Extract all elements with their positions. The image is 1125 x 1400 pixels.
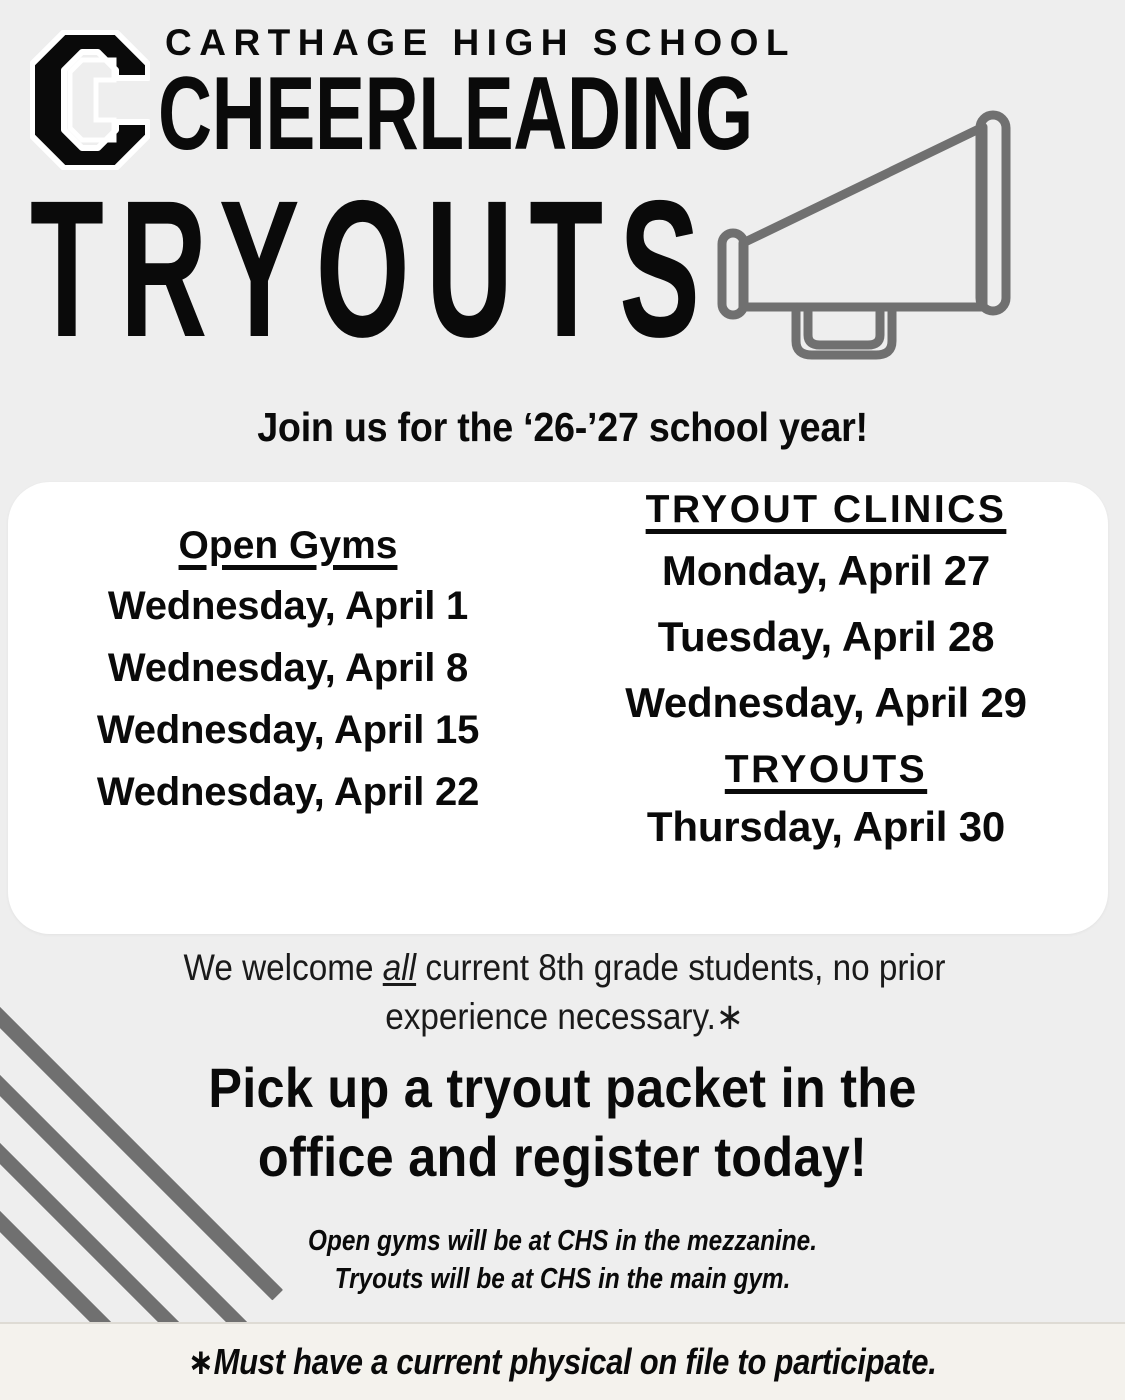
open-gym-date: Wednesday, April 1 (28, 586, 548, 626)
open-gym-date: Wednesday, April 22 (28, 772, 548, 812)
open-gyms-column: Open Gyms Wednesday, April 1 Wednesday, … (28, 524, 548, 834)
tryouts-heading: TRYOUTS (556, 748, 1096, 792)
footer-band: ∗Must have a current physical on file to… (0, 1322, 1125, 1400)
tryout-clinics-column: TRYOUT CLINICS Monday, April 27 Tuesday,… (556, 488, 1096, 872)
tryout-clinics-heading: TRYOUT CLINICS (556, 488, 1096, 532)
page-title: TRYOUTS (30, 172, 716, 367)
tryout-date: Thursday, April 30 (556, 806, 1096, 848)
subtitle: Join us for the ‘26-’27 school year! (45, 404, 1080, 451)
footer-disclaimer: ∗Must have a current physical on file to… (188, 1341, 937, 1383)
poster-canvas: CARTHAGE HIGH SCHOOL CHEERLEADING TRYOUT… (0, 0, 1125, 1400)
clinic-date: Monday, April 27 (556, 550, 1096, 592)
location-notes: Open gyms will be at CHS in the mezzanin… (90, 1222, 1035, 1299)
cta-line-1: Pick up a tryout packet in the (56, 1053, 1069, 1122)
megaphone-icon (700, 105, 1050, 365)
clinic-date: Tuesday, April 28 (556, 616, 1096, 658)
clinic-date: Wednesday, April 29 (556, 682, 1096, 724)
open-gym-date: Wednesday, April 15 (28, 710, 548, 750)
open-gym-date: Wednesday, April 8 (28, 648, 548, 688)
welcome-emphasis: all (383, 947, 416, 988)
welcome-paragraph: We welcome all current 8th grade student… (121, 944, 1008, 1042)
location-note-tryouts: Tryouts will be at CHS in the main gym. (90, 1260, 1035, 1298)
location-note-open-gyms: Open gyms will be at CHS in the mezzanin… (90, 1222, 1035, 1260)
schedule-card: Open Gyms Wednesday, April 1 Wednesday, … (8, 482, 1108, 934)
call-to-action: Pick up a tryout packet in the office an… (56, 1053, 1069, 1192)
cta-line-2: office and register today! (56, 1122, 1069, 1191)
open-gyms-heading: Open Gyms (28, 524, 548, 568)
welcome-text-part1: We welcome (184, 947, 383, 988)
welcome-text-part2: current 8th grade students, no prior exp… (385, 947, 945, 1037)
carthage-c-logo-icon (30, 30, 150, 170)
program-name: CHEERLEADING (158, 62, 753, 166)
